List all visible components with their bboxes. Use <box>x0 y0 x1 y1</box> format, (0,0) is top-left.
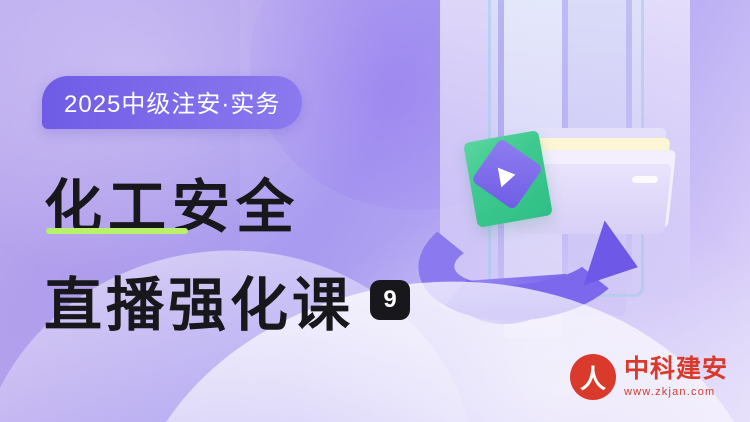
course-badge: 2025中级注安·实务 <box>42 76 302 129</box>
document-tab <box>632 176 659 183</box>
folder-icon <box>463 130 553 228</box>
play-icon <box>498 165 517 187</box>
page-title-line-2-row: 直播强化课 9 <box>44 258 410 342</box>
logo-name: 中科建安 <box>624 356 728 382</box>
title-underline <box>46 228 188 234</box>
logo-mark-icon: 人 <box>570 354 616 400</box>
page-title-line-2: 直播强化课 <box>44 258 354 342</box>
promo-banner: 2025中级注安·实务 化工安全 直播强化课 9 人 中科建安 www.zkja… <box>0 0 750 422</box>
background-soft-glow-top <box>0 0 400 290</box>
brand-logo: 人 中科建安 www.zkjan.com <box>570 354 728 400</box>
episode-badge: 9 <box>370 280 410 320</box>
logo-url: www.zkjan.com <box>624 386 728 398</box>
logo-text-group: 中科建安 www.zkjan.com <box>624 356 728 397</box>
